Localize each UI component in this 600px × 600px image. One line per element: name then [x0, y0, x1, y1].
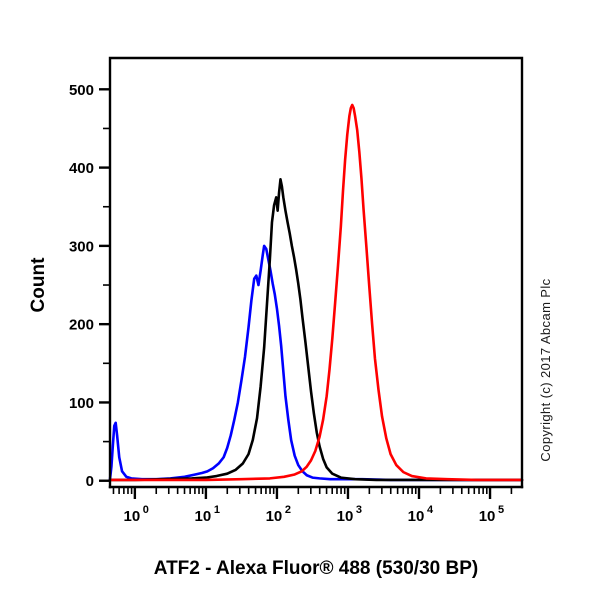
- svg-text:5: 5: [498, 504, 504, 516]
- svg-text:4: 4: [427, 504, 434, 516]
- y-tick-label: 0: [86, 473, 94, 490]
- y-tick-label: 100: [69, 395, 94, 412]
- y-tick-label: 500: [69, 82, 94, 99]
- svg-text:10: 10: [266, 508, 283, 525]
- x-tick-label: 104: [408, 504, 434, 525]
- svg-text:10: 10: [408, 508, 425, 525]
- x-tick-label: 105: [479, 504, 504, 525]
- trace-curves: [110, 105, 522, 480]
- x-axis-ticks: [113, 487, 511, 499]
- svg-text:0: 0: [143, 504, 149, 516]
- histogram-plot: 0100200300400500 100101102103104105 Coun…: [0, 0, 600, 600]
- x-tick-label: 102: [266, 504, 291, 525]
- y-tick-label: 400: [69, 160, 94, 177]
- x-axis-title: ATF2 - Alexa Fluor® 488 (530/30 BP): [154, 558, 478, 579]
- y-axis-ticks: [99, 89, 110, 480]
- y-tick-label: 300: [69, 238, 94, 255]
- svg-text:10: 10: [337, 508, 354, 525]
- svg-text:10: 10: [124, 508, 141, 525]
- trace-isotype-control: [110, 179, 522, 480]
- x-axis-tick-labels: 100101102103104105: [124, 504, 505, 525]
- x-tick-label: 101: [195, 504, 220, 525]
- x-tick-label: 103: [337, 504, 362, 525]
- y-tick-label: 200: [69, 317, 94, 334]
- y-axis-title: Count: [28, 257, 49, 313]
- y-axis-tick-labels: 0100200300400500: [69, 82, 94, 490]
- x-tick-label: 100: [124, 504, 149, 525]
- svg-text:10: 10: [479, 508, 496, 525]
- svg-text:1: 1: [214, 504, 220, 516]
- svg-text:2: 2: [285, 504, 291, 516]
- copyright-notice: Copyright (c) 2017 Abcam Plc: [538, 278, 553, 461]
- flow-cytometry-figure: 0100200300400500 100101102103104105 Coun…: [0, 0, 600, 600]
- svg-text:3: 3: [356, 504, 362, 516]
- svg-text:10: 10: [195, 508, 212, 525]
